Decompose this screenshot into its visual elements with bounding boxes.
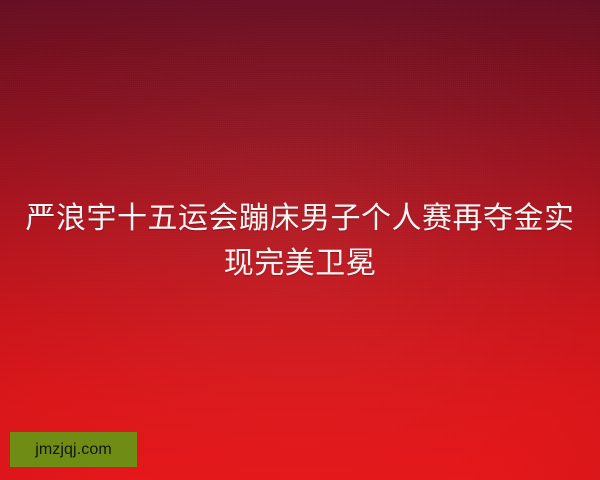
- watermark-label: jmzjqj.com: [35, 442, 112, 458]
- headline-container: 严浪宇十五运会蹦床男子个人赛再夺金实现完美卫冕: [0, 196, 600, 286]
- headline-text: 严浪宇十五运会蹦床男子个人赛再夺金实现完美卫冕: [24, 196, 576, 286]
- watermark-badge: jmzjqj.com: [10, 432, 137, 467]
- banner-image: 严浪宇十五运会蹦床男子个人赛再夺金实现完美卫冕 jmzjqj.com: [0, 0, 600, 480]
